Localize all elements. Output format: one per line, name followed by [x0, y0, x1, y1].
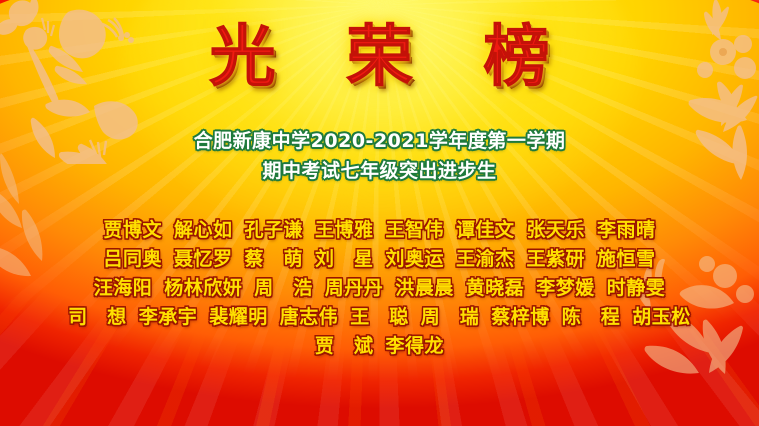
student-name: 洪晨晨 — [395, 274, 454, 303]
student-name: 刘奥运 — [386, 245, 445, 274]
student-name: 周丹丹 — [325, 274, 384, 303]
student-name: 贾 斌 — [315, 332, 374, 361]
student-name: 时静雯 — [607, 274, 666, 303]
student-name: 李梦媛 — [536, 274, 595, 303]
name-row: 司 想李承宇裴耀明唐志伟王 聪周 瑞蔡梓博陈 程胡玉松 — [34, 303, 725, 332]
poster-subtitle: 合肥新康中学2020-2021学年度第一学期 期中考试七年级突出进步生 — [0, 126, 759, 186]
student-name: 杨林欣妍 — [164, 274, 242, 303]
student-name: 胡玉松 — [632, 303, 691, 332]
student-name: 王博雅 — [315, 216, 374, 245]
student-name: 陈 程 — [562, 303, 621, 332]
name-row: 贾博文解心如孔子谦王博雅王智伟谭佳文张天乐李雨晴 — [34, 216, 725, 245]
student-name: 汪海阳 — [94, 274, 153, 303]
honor-roll-poster: 光 荣 榜 合肥新康中学2020-2021学年度第一学期 期中考试七年级突出进步… — [0, 0, 759, 426]
student-name: 施恒雪 — [597, 245, 656, 274]
name-row: 汪海阳杨林欣妍周 浩周丹丹洪晨晨黄晓磊李梦媛时静雯 — [34, 274, 725, 303]
student-name: 王渝杰 — [456, 245, 515, 274]
name-row: 贾 斌李得龙 — [34, 332, 725, 361]
student-name: 孔子谦 — [244, 216, 303, 245]
student-name: 刘 星 — [315, 245, 374, 274]
student-name: 李得龙 — [386, 332, 445, 361]
student-name: 谭佳文 — [456, 216, 515, 245]
student-name: 周 瑞 — [421, 303, 480, 332]
student-name: 裴耀明 — [209, 303, 268, 332]
student-name: 王智伟 — [386, 216, 445, 245]
student-name: 张天乐 — [527, 216, 586, 245]
student-name: 聂忆罗 — [174, 245, 233, 274]
student-name: 周 浩 — [254, 274, 313, 303]
student-name: 李雨晴 — [597, 216, 656, 245]
student-name: 蔡梓博 — [491, 303, 550, 332]
student-name: 李承宇 — [139, 303, 198, 332]
student-name: 唐志伟 — [280, 303, 339, 332]
student-name: 解心如 — [174, 216, 233, 245]
page-title: 光 荣 榜 — [0, 24, 759, 90]
student-name: 王紫研 — [527, 245, 586, 274]
name-row: 吕同奥聂忆罗蔡 萌刘 星刘奥运王渝杰王紫研施恒雪 — [34, 245, 725, 274]
student-name: 黄晓磊 — [466, 274, 525, 303]
subtitle-line-1: 合肥新康中学2020-2021学年度第一学期 — [0, 126, 759, 156]
student-name: 贾博文 — [103, 216, 162, 245]
student-name: 王 聪 — [350, 303, 409, 332]
student-name: 司 想 — [68, 303, 127, 332]
student-name: 蔡 萌 — [244, 245, 303, 274]
student-name-list: 贾博文解心如孔子谦王博雅王智伟谭佳文张天乐李雨晴吕同奥聂忆罗蔡 萌刘 星刘奥运王… — [34, 216, 725, 361]
student-name: 吕同奥 — [103, 245, 162, 274]
subtitle-line-2: 期中考试七年级突出进步生 — [0, 156, 759, 186]
